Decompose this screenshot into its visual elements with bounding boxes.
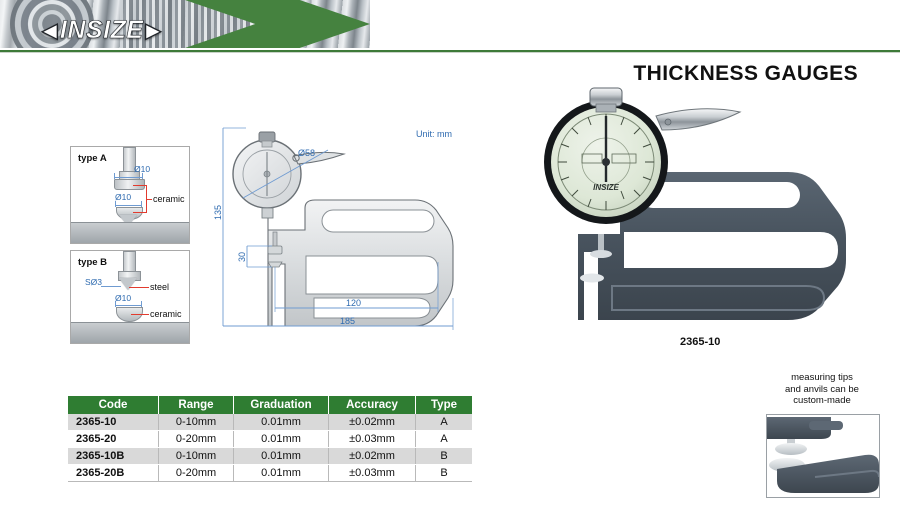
type-b-workpiece bbox=[71, 322, 189, 343]
cell-type: B bbox=[416, 448, 473, 465]
type-a-lower-dim-tick-right bbox=[141, 201, 142, 207]
cell-code: 2365-20 bbox=[68, 431, 159, 448]
drawing-unit-label: Unit: mm bbox=[416, 129, 452, 139]
product-upper-anvil bbox=[590, 250, 612, 258]
table-row: 2365-20 0-20mm 0.01mm ±0.03mm A bbox=[68, 431, 472, 448]
drawing-dim-gap-label: 30 bbox=[237, 252, 247, 262]
header-divider-light bbox=[0, 52, 900, 53]
product-lever-pivot bbox=[665, 119, 671, 125]
drawing-dim-length-label: 185 bbox=[340, 316, 355, 326]
product-dial-crown bbox=[590, 88, 622, 106]
type-a-lower-dia-label: Ø10 bbox=[115, 192, 131, 202]
column-header-accuracy: Accuracy bbox=[329, 396, 416, 414]
type-b-sdia-leader bbox=[101, 286, 121, 287]
drawing-upper-anvil bbox=[268, 246, 282, 254]
cell-graduation: 0.01mm bbox=[234, 414, 329, 431]
type-b-label: type B bbox=[78, 257, 107, 268]
custom-tips-note-line2: and anvils can be bbox=[762, 384, 882, 396]
page-header: ◀ INSIZE ▶ bbox=[0, 0, 900, 52]
type-b-upper-material-label: steel bbox=[150, 282, 169, 292]
drawing-middle-slot bbox=[306, 256, 438, 294]
type-a-leader-top bbox=[133, 185, 147, 186]
product-spindle bbox=[598, 234, 604, 252]
drawing-dim-depth-label: 120 bbox=[346, 298, 361, 308]
table-row: 2365-10B 0-10mm 0.01mm ±0.02mm B bbox=[68, 448, 472, 465]
table-row: 2365-20B 0-20mm 0.01mm ±0.03mm B bbox=[68, 465, 472, 482]
cell-range: 0-20mm bbox=[159, 431, 234, 448]
type-b-steel-cone-tip bbox=[119, 278, 137, 290]
column-header-range: Range bbox=[159, 396, 234, 414]
custom-tips-photo-svg bbox=[767, 415, 879, 497]
column-header-graduation: Graduation bbox=[234, 396, 329, 414]
cell-code: 2365-10B bbox=[68, 448, 159, 465]
drawing-dim-height-label: 135 bbox=[213, 205, 223, 220]
product-photo-caption: 2365-10 bbox=[680, 336, 720, 348]
product-lower-window bbox=[624, 232, 838, 268]
drawing-dial-stem bbox=[262, 141, 272, 147]
type-a-upper-dim-line bbox=[114, 177, 143, 178]
custom-tips-upper-arm-detail bbox=[809, 421, 843, 430]
drawing-dial-mount bbox=[262, 208, 273, 218]
table-row: 2365-10 0-10mm 0.01mm ±0.02mm A bbox=[68, 414, 472, 431]
column-header-type: Type bbox=[416, 396, 473, 414]
cell-range: 0-10mm bbox=[159, 448, 234, 465]
cell-code: 2365-10 bbox=[68, 414, 159, 431]
type-a-upper-dia-label: Ø10 bbox=[134, 164, 150, 174]
type-b-steel-leader bbox=[129, 287, 149, 288]
type-a-leader-out bbox=[146, 199, 152, 200]
type-a-material-label: ceramic bbox=[153, 194, 185, 204]
cell-type: B bbox=[416, 465, 473, 482]
type-b-lower-dim-tick-right bbox=[141, 301, 142, 307]
product-dial-stem bbox=[596, 104, 616, 112]
cell-graduation: 0.01mm bbox=[234, 448, 329, 465]
product-photo: INSIZE bbox=[520, 82, 880, 322]
cell-accuracy: ±0.03mm bbox=[329, 431, 416, 448]
technical-drawing-svg: Ø58 135 30 120 185 bbox=[210, 112, 460, 340]
drawing-dial-crown bbox=[259, 132, 275, 142]
logo-left-arrow-icon: ◀ bbox=[42, 21, 58, 41]
column-header-code: Code bbox=[68, 396, 159, 414]
custom-tips-photo bbox=[766, 414, 880, 498]
type-a-lower-dim-line bbox=[115, 205, 142, 206]
technical-drawing: Ø58 135 30 120 185 Unit: mm bbox=[210, 112, 460, 340]
table-header-row: Code Range Graduation Accuracy Type bbox=[68, 396, 472, 414]
cell-range: 0-20mm bbox=[159, 465, 234, 482]
logo-right-arrow-icon: ▶ bbox=[145, 21, 161, 41]
cell-accuracy: ±0.02mm bbox=[329, 448, 416, 465]
type-b-lower-dia-label: Ø10 bbox=[115, 293, 131, 303]
product-lower-anvil bbox=[580, 274, 604, 283]
logo-wordmark: INSIZE bbox=[60, 16, 144, 45]
tip-diagram-type-b: type B SØ3 steel Ø10 ceramic bbox=[70, 250, 190, 344]
cell-type: A bbox=[416, 431, 473, 448]
product-dial-hub bbox=[602, 158, 610, 166]
product-upper-window bbox=[640, 182, 800, 208]
drawing-upper-slot bbox=[322, 210, 434, 232]
type-a-workpiece bbox=[71, 222, 189, 243]
type-a-label: type A bbox=[78, 153, 107, 164]
custom-tips-note-line3: custom-made bbox=[762, 395, 882, 407]
custom-tips-note-line1: measuring tips bbox=[762, 372, 882, 384]
tip-diagram-type-a: type A Ø10 Ø10 ceramic bbox=[70, 146, 190, 244]
drawing-dim-dial-label: Ø58 bbox=[298, 148, 315, 158]
cell-accuracy: ±0.02mm bbox=[329, 414, 416, 431]
custom-tips-upper-anvil bbox=[775, 443, 807, 455]
type-a-upper-dim-tick-left bbox=[114, 173, 115, 179]
type-b-lower-dim-line bbox=[115, 305, 142, 306]
cell-accuracy: ±0.03mm bbox=[329, 465, 416, 482]
drawing-lower-anvil bbox=[268, 262, 282, 267]
cell-range: 0-10mm bbox=[159, 414, 234, 431]
cell-graduation: 0.01mm bbox=[234, 465, 329, 482]
type-b-lower-material-label: ceramic bbox=[150, 309, 182, 319]
insize-logo: ◀ INSIZE ▶ bbox=[42, 16, 161, 45]
type-b-ceramic-leader bbox=[131, 314, 149, 315]
product-dial-logo: INSIZE bbox=[593, 183, 619, 192]
specification-table: Code Range Graduation Accuracy Type 2365… bbox=[68, 396, 472, 482]
type-b-upper-dia-label: SØ3 bbox=[85, 277, 102, 287]
cell-graduation: 0.01mm bbox=[234, 431, 329, 448]
product-photo-svg: INSIZE bbox=[520, 82, 880, 322]
cell-type: A bbox=[416, 414, 473, 431]
custom-tips-note: measuring tips and anvils can be custom-… bbox=[762, 372, 882, 407]
cell-code: 2365-20B bbox=[68, 465, 159, 482]
type-a-leader-bottom bbox=[133, 212, 147, 213]
